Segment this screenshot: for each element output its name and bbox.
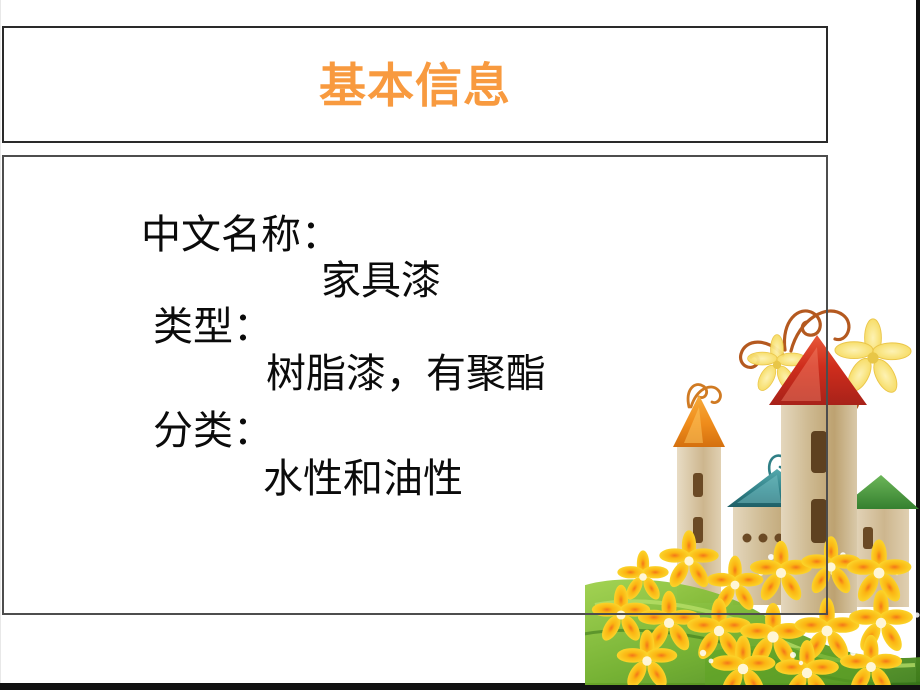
content-text-block[interactable]: 中文名称： 家具漆 类型： 树脂漆，有聚酯 分类： 水性和油性 [0, 155, 828, 615]
page-edge-bottom [0, 683, 920, 690]
page-title: 基本信息 [319, 62, 511, 111]
label-category: 分类： [153, 409, 273, 453]
title-placeholder[interactable]: 基本信息 [2, 26, 828, 143]
value-category: 水性和油性 [263, 457, 463, 501]
label-chinese-name: 中文名称： [141, 213, 341, 257]
label-type: 类型： [153, 305, 273, 349]
slide-canvas: 基本信息 中文名称： 家具漆 类型： 树脂漆，有聚酯 分类： 水性和油性 [0, 0, 920, 690]
page-edge-right [916, 0, 920, 690]
value-type: 树脂漆，有聚酯 [266, 352, 546, 396]
value-chinese-name: 家具漆 [321, 259, 441, 303]
